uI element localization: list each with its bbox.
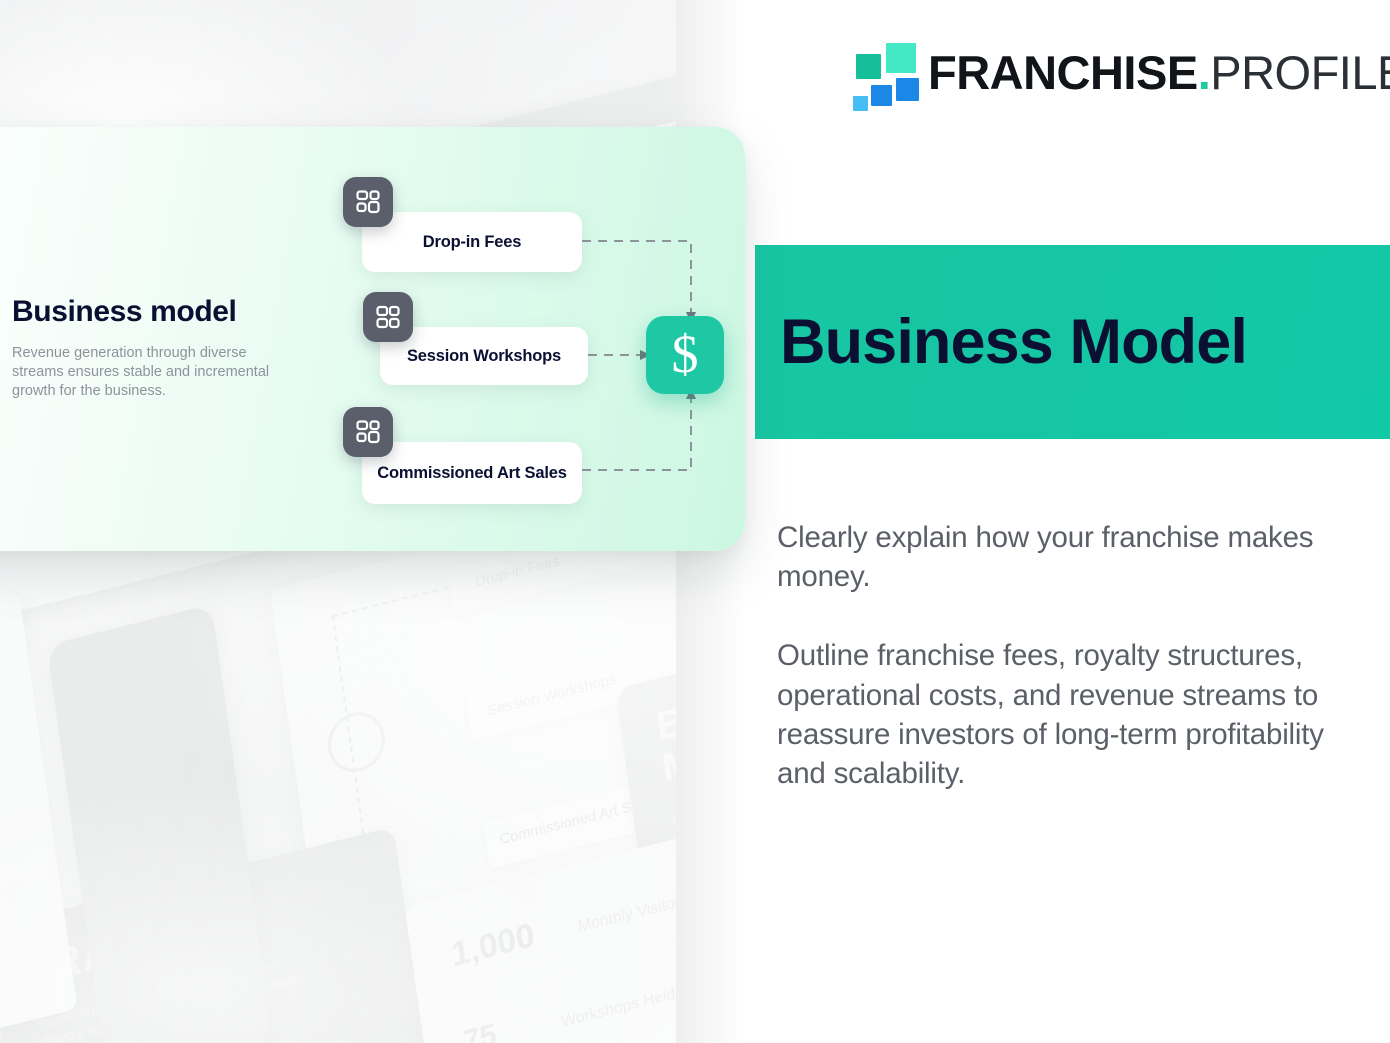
page-title: Business Model	[780, 311, 1247, 374]
connector-commissioned-art-sales	[582, 399, 691, 470]
watermark-metric-value: 75	[462, 1018, 499, 1043]
grid-layout-icon-glyph	[354, 418, 382, 446]
watermark-metric-value: 1,000	[449, 916, 537, 975]
grid-layout-icon-glyph	[374, 303, 402, 331]
brand-name-bold: FRANCHISE	[928, 46, 1198, 99]
brand-name-dot: .	[1198, 46, 1211, 99]
logo-square-blue	[896, 78, 919, 101]
dollar-sign-glyph: $	[672, 327, 699, 381]
revenue-node-commissioned-art-sales[interactable]: Commissioned Art Sales	[362, 442, 582, 504]
brand-logo[interactable]: FRANCHISE.PROFILES	[851, 41, 1390, 103]
description-paragraph-1: Clearly explain how your franchise makes…	[777, 518, 1349, 596]
connector-drop-in-fees	[582, 241, 691, 312]
revenue-node-label: Drop-in Fees	[423, 232, 521, 252]
revenue-node-session-workshops[interactable]: Session Workshops	[380, 327, 588, 385]
description-copy: Clearly explain how your franchise makes…	[777, 518, 1349, 793]
slide-page: for pitch deck THE PROBLEM Many individu…	[0, 0, 1390, 1043]
section-title-banner: Business Model	[755, 245, 1390, 439]
revenue-node-label: Commissioned Art Sales	[377, 463, 566, 483]
franchise-profiles-logo-mark	[851, 41, 913, 103]
logo-square-blue-light	[853, 96, 868, 111]
revenue-node-drop-in-fees[interactable]: Drop-in Fees	[362, 212, 582, 272]
brand-name-thin: PROFILES	[1210, 46, 1390, 99]
grid-layout-icon	[343, 177, 393, 227]
logo-square-teal-light	[886, 43, 916, 73]
dollar-sign-icon[interactable]: $	[646, 316, 724, 394]
description-paragraph-2: Outline franchise fees, royalty structur…	[777, 636, 1349, 793]
brand-wordmark: FRANCHISE.PROFILES	[928, 49, 1390, 96]
watermark-metric-label: Monthly Visitors	[577, 892, 676, 937]
revenue-node-label: Session Workshops	[407, 346, 561, 366]
logo-square-blue-mid	[871, 85, 892, 106]
grid-layout-icon-glyph	[354, 188, 382, 216]
logo-square-teal-dark	[856, 54, 881, 79]
grid-layout-icon	[363, 292, 413, 342]
watermark-metric-label: Workshops Held	[560, 986, 676, 1032]
slide-preview-card: Business model Revenue generation throug…	[0, 127, 745, 551]
grid-layout-icon	[343, 407, 393, 457]
